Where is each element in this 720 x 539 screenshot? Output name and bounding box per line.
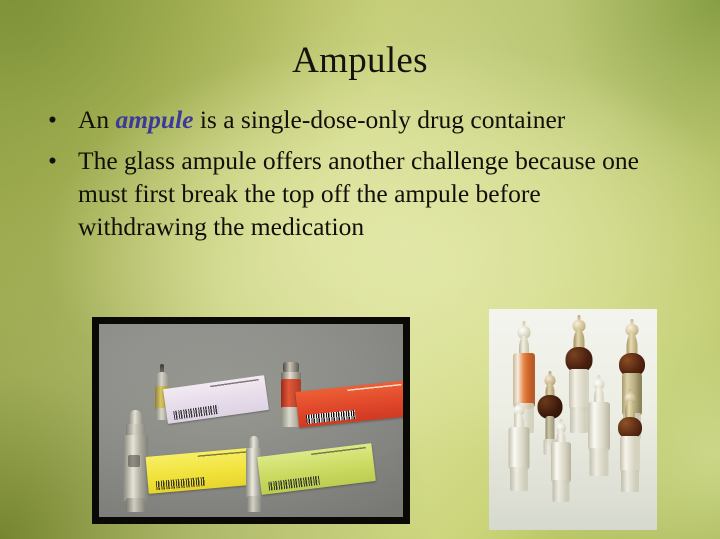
- ampule-amber-front-right: [615, 389, 645, 493]
- photo-right-ampule-cluster: [489, 309, 657, 530]
- ampule-clear-front-middle: [547, 419, 575, 505]
- list-item: • The glass ampule offers another challe…: [40, 144, 660, 243]
- bullet-1-emphasis: ampule: [116, 105, 194, 134]
- bullet-marker-icon: •: [48, 144, 57, 177]
- bullet-text-1: An ampule is a single-dose-only drug con…: [78, 105, 565, 134]
- bullet-text-2: The glass ampule offers another challeng…: [78, 146, 639, 241]
- list-item: • An ampule is a single-dose-only drug c…: [40, 103, 660, 136]
- slide-canvas: Ampules • An ampule is a single-dose-onl…: [0, 0, 720, 539]
- photo-left-vials-framed: [92, 317, 410, 524]
- bullet-list: • An ampule is a single-dose-only drug c…: [40, 103, 660, 251]
- ampule-clear-center: [585, 375, 613, 479]
- slide-title: Ampules: [0, 42, 720, 81]
- ampule-clear-front-left: [505, 401, 533, 493]
- bullet-marker-icon: •: [48, 103, 57, 136]
- label-green: [257, 443, 376, 495]
- photo-left-surface: [99, 324, 403, 517]
- label-red: [295, 380, 410, 428]
- bullet-1-lead: An: [78, 105, 116, 134]
- label-pink: [163, 375, 269, 424]
- bullet-1-tail: is a single-dose-only drug container: [193, 105, 565, 134]
